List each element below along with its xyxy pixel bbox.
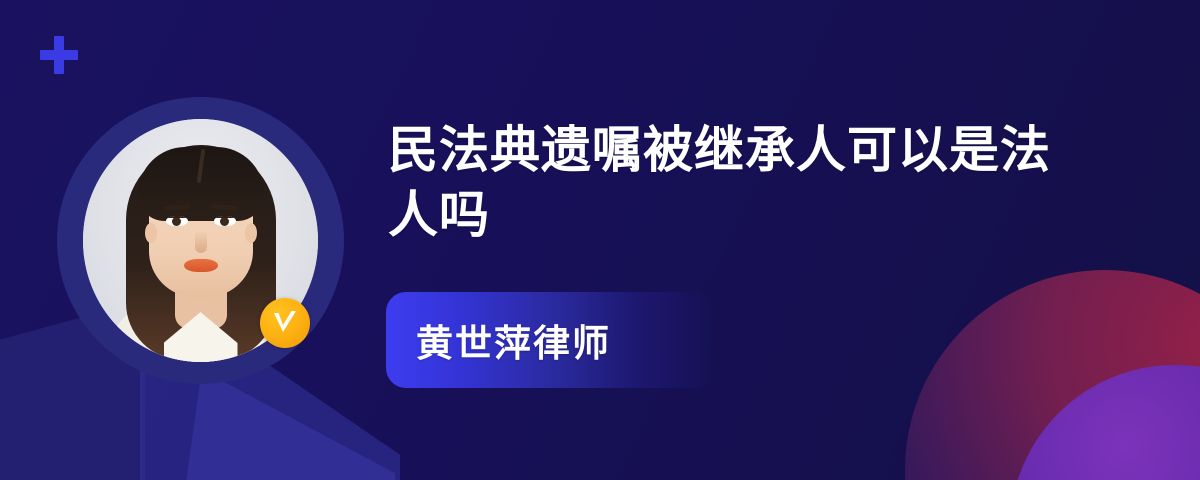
lawyer-name-badge[interactable]: 黄世萍律师 (386, 292, 714, 388)
page-title: 民法典遗嘱被继承人可以是法人吗 (388, 118, 1088, 248)
lawyer-name-label: 黄世萍律师 (386, 313, 611, 367)
decorative-wedge-inner (185, 370, 395, 480)
lawyer-question-banner: 民法典遗嘱被继承人可以是法人吗 黄世萍律师 (0, 0, 1200, 480)
decorative-orb-purple (1010, 365, 1200, 480)
plus-icon (40, 36, 78, 74)
verified-badge-icon (260, 298, 310, 348)
decorative-orb-crimson (905, 270, 1200, 480)
headline-block: 民法典遗嘱被继承人可以是法人吗 (388, 118, 1088, 248)
